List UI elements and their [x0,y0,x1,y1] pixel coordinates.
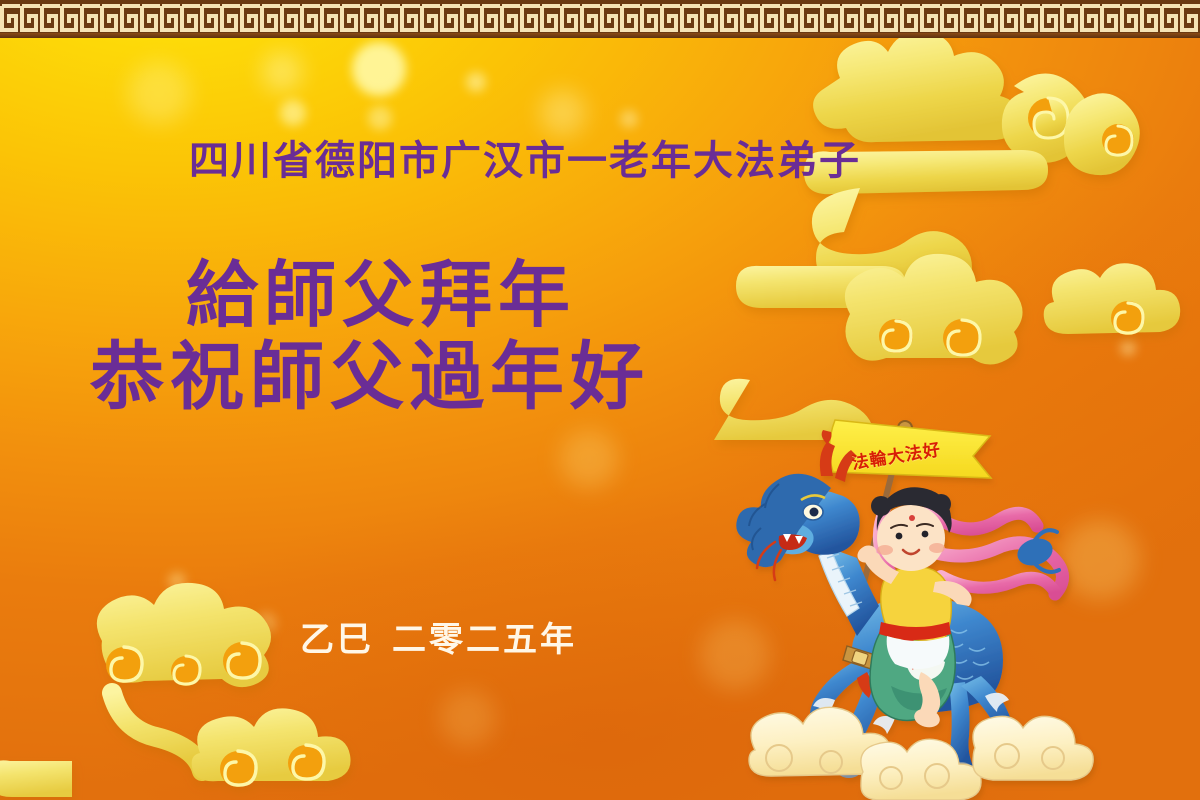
greek-key-border [0,0,1200,38]
greeting-line-1: 給師父拜年 [90,258,650,333]
border-underline [0,33,1200,38]
gregorian-year: 二零二五年 [392,620,577,660]
greeting-card: 法輪大法好 四川省德阳市广汉市一老年大法弟子 給師父拜年 恭祝師父過年好 乙巳二… [0,0,1200,800]
greeting-line-2: 恭祝師父過年好 [90,339,650,416]
sender-line: 四川省德阳市广汉市一老年大法弟子 [0,128,1050,186]
date-line: 乙巳二零二五年 [300,612,577,661]
greeting-block: 給師父拜年 恭祝師父過年好 [90,258,650,416]
cyclical-year: 乙巳 [300,620,374,660]
